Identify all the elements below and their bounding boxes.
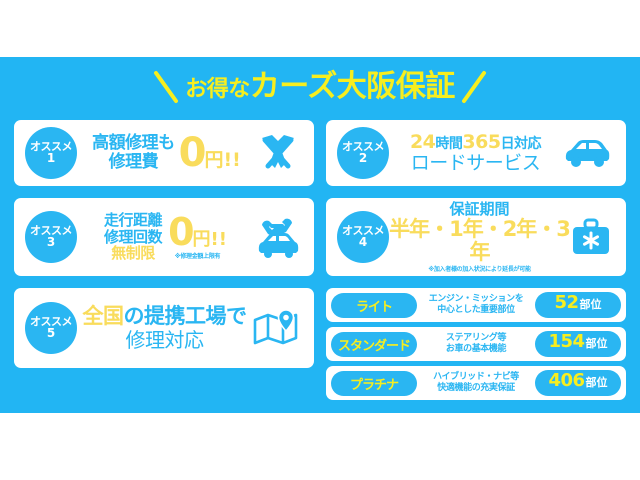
plan-count-light-number: 52 [554,292,578,313]
feature-3-line1: 走行距離 [104,212,162,229]
toolkit-briefcase-icon [570,217,612,257]
plan-desc-standard-line1: ステアリング等 [420,333,532,344]
feature-1-line2: 修理費 [92,153,175,172]
feature-4-line2: 半年・1年・2年・3年 [389,218,570,265]
plan-count-light: 52 部位 [535,292,621,318]
headline-main: カーズ大阪保証 [250,69,455,104]
feature-card-1[interactable]: オススメ 1 高額修理も 修理費 0 円!! [14,120,314,186]
feature-1-amount: 0 [179,134,205,172]
plan-desc-platinum-line2: 快適機能の充実保証 [420,383,532,394]
plan-count-light-unit: 部位 [580,296,602,312]
crossed-hammers-icon [256,132,300,174]
feature-3-note: ※修理金額上限有 [175,251,220,260]
feature-3-line2: 修理回数 [104,229,162,246]
badge-number: 1 [47,152,55,165]
feature-3-line3: 無制限 [104,245,162,262]
plan-name-standard: スタンダード [331,332,417,357]
feature-card-3[interactable]: オススメ 3 走行距離 修理回数 無制限 0 円!! ※修理金額上限有 [14,198,314,276]
feature-card-3-body: 走行距離 修理回数 無制限 0 円!! ※修理金額上限有 [77,198,254,276]
recommend-badge-1: オススメ 1 [25,127,77,179]
feature-2-hours-unit: 時間 [435,136,462,152]
recommend-badge-2: オススメ 2 [337,127,389,179]
feature-5-line2: 修理対応 [83,329,247,351]
slash-left-icon [153,70,179,104]
feature-5-nationwide: 全国 [83,304,124,328]
feature-1-copy: 高額修理も 修理費 [92,134,175,172]
feature-1-line1: 高額修理も [92,134,175,153]
feature-4-line1: 保証期間 [389,201,570,218]
headline-prefix: お得な [185,77,250,102]
feature-2-hours: 24 [410,131,435,153]
recommend-badge-4: オススメ 4 [337,211,389,263]
feature-3-amount-unit: 円!! [193,225,227,251]
plan-desc-standard: ステアリング等 お車の基本機能 [417,333,535,356]
feature-3-amount: 0 [168,214,192,250]
badge-number: 2 [359,152,367,165]
badge-number: 3 [47,236,55,249]
feature-card-5[interactable]: オススメ 5 全国の提携工場で 修理対応 [14,288,314,368]
feature-3-copy: 走行距離 修理回数 無制限 [104,212,162,262]
plan-desc-platinum-line1: ハイブリッド・ナビ等 [420,372,532,383]
feature-card-1-body: 高額修理も 修理費 0 円!! [77,120,256,186]
feature-card-2-body: 24時間365日対応 ロードサービス [389,120,562,186]
feature-5-partner: の提携工場で [124,304,247,328]
plan-row-platinum[interactable]: プラチナ ハイブリッド・ナビ等 快適機能の充実保証 406 部位 [326,366,626,400]
plan-desc-light-line2: 中心とした重要部位 [420,305,532,316]
plan-count-standard: 154 部位 [535,331,621,357]
plan-count-standard-number: 154 [548,331,584,352]
feature-4-note: ※加入者様の加入状況により延長が可能 [389,267,570,274]
feature-card-4-body: 保証期間 半年・1年・2年・3年 ※加入者様の加入状況により延長が可能 [389,198,570,276]
plan-desc-light-line1: エンジン・ミッションを [420,294,532,305]
headline: お得なカーズ大阪保証 [0,62,640,112]
recommend-badge-5: オススメ 5 [25,302,77,354]
feature-2-line2: ロードサービス [410,153,541,174]
slash-right-icon [461,70,487,104]
feature-card-4[interactable]: オススメ 4 保証期間 半年・1年・2年・3年 ※加入者様の加入状況により延長が… [326,198,626,276]
feature-1-amount-unit: 円!! [205,145,241,172]
badge-number: 5 [47,327,55,340]
car-icon [562,137,612,169]
map-pin-icon [252,308,300,348]
feature-2-line1: 24時間365日対応 [410,132,541,153]
badge-number: 4 [359,236,367,249]
feature-card-2[interactable]: オススメ 2 24時間365日対応 ロードサービス [326,120,626,186]
headline-text: お得なカーズ大阪保証 [185,72,455,102]
plan-desc-light: エンジン・ミッションを 中心とした重要部位 [417,294,535,317]
plan-desc-platinum: ハイブリッド・ナビ等 快適機能の充実保証 [417,372,535,395]
recommend-badge-3: オススメ 3 [25,211,77,263]
plan-desc-standard-line2: お車の基本機能 [420,344,532,355]
car-wrench-icon [254,215,300,259]
plan-count-platinum-unit: 部位 [586,374,608,390]
plan-count-platinum: 406 部位 [535,370,621,396]
feature-2-days: 365 [462,131,500,153]
plan-row-standard[interactable]: スタンダード ステアリング等 お車の基本機能 154 部位 [326,327,626,361]
feature-card-5-body: 全国の提携工場で 修理対応 [77,288,252,368]
feature-2-days-unit: 日対応 [501,136,542,152]
plan-row-light[interactable]: ライト エンジン・ミッションを 中心とした重要部位 52 部位 [326,288,626,322]
feature-5-line1: 全国の提携工場で [83,305,247,329]
plan-name-light: ライト [331,293,417,318]
advertisement-canvas: お得なカーズ大阪保証 オススメ 1 高額修理も 修理費 0 円!! [0,0,640,480]
plan-name-platinum: プラチナ [331,371,417,396]
plan-count-standard-unit: 部位 [586,335,608,351]
plan-count-platinum-number: 406 [548,370,584,391]
